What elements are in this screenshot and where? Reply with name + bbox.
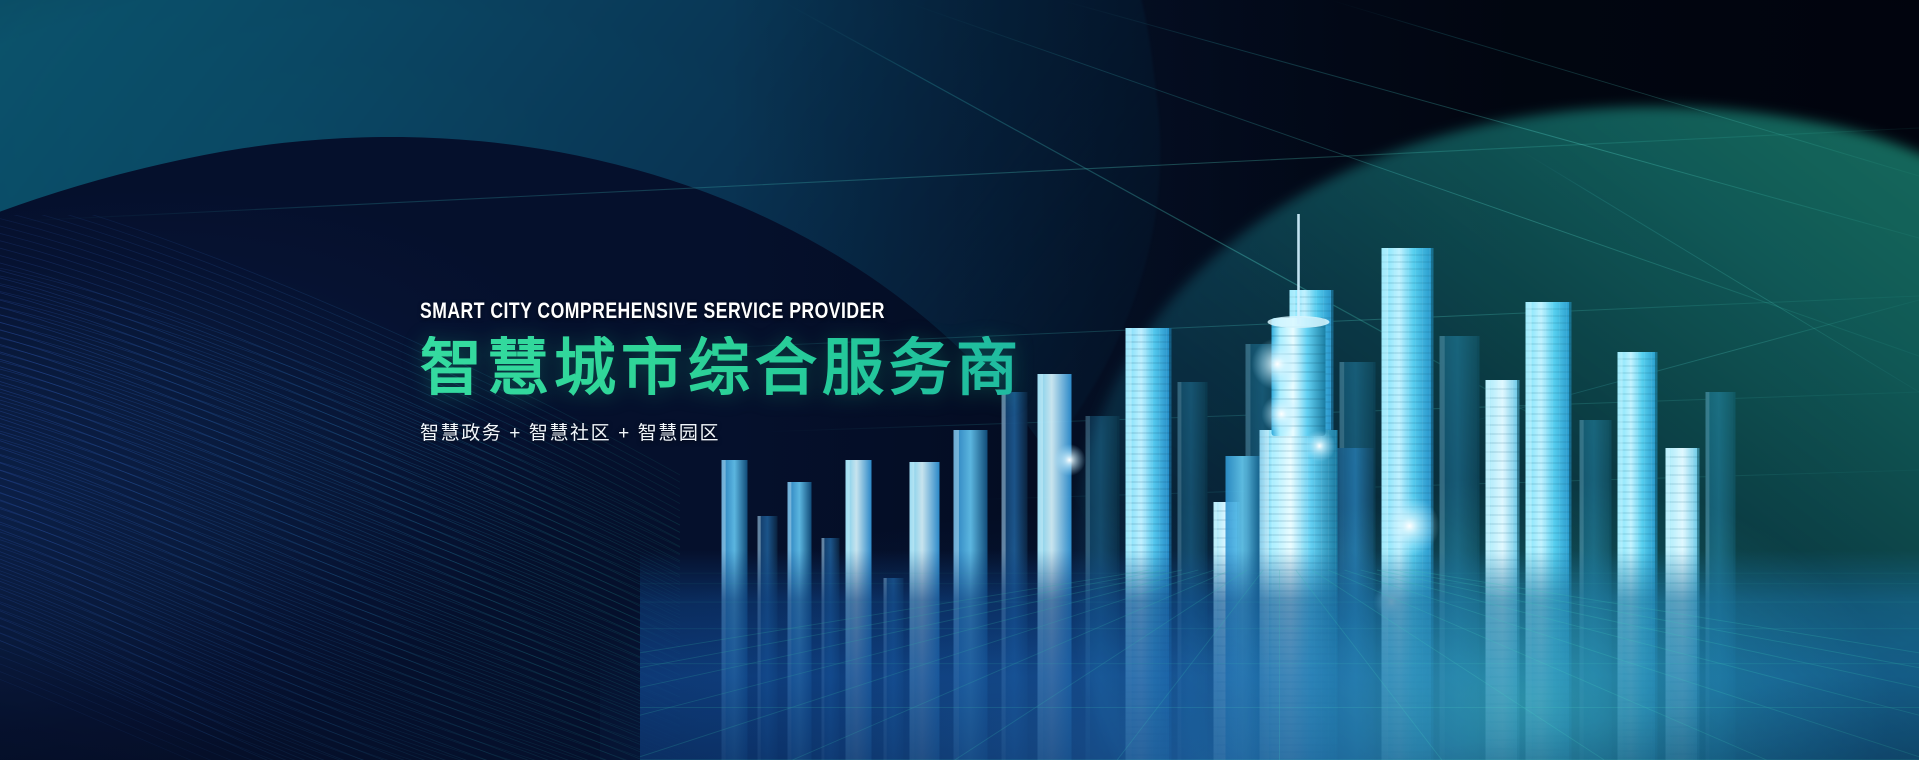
perspective-ground-plane: [640, 550, 1919, 760]
banner-headline-chinese: 智慧城市综合服务商: [420, 336, 1023, 402]
city-skyline-illustration: [640, 130, 1919, 760]
banner-subline-services: 智慧政务 + 智慧社区 + 智慧园区: [420, 418, 1023, 445]
banner-copy-block: SMART CITY COMPREHENSIVE SERVICE PROVIDE…: [420, 300, 1023, 445]
smart-city-hero-banner: SMART CITY COMPREHENSIVE SERVICE PROVIDE…: [0, 0, 1919, 760]
banner-eyebrow-english: SMART CITY COMPREHENSIVE SERVICE PROVIDE…: [420, 300, 902, 322]
